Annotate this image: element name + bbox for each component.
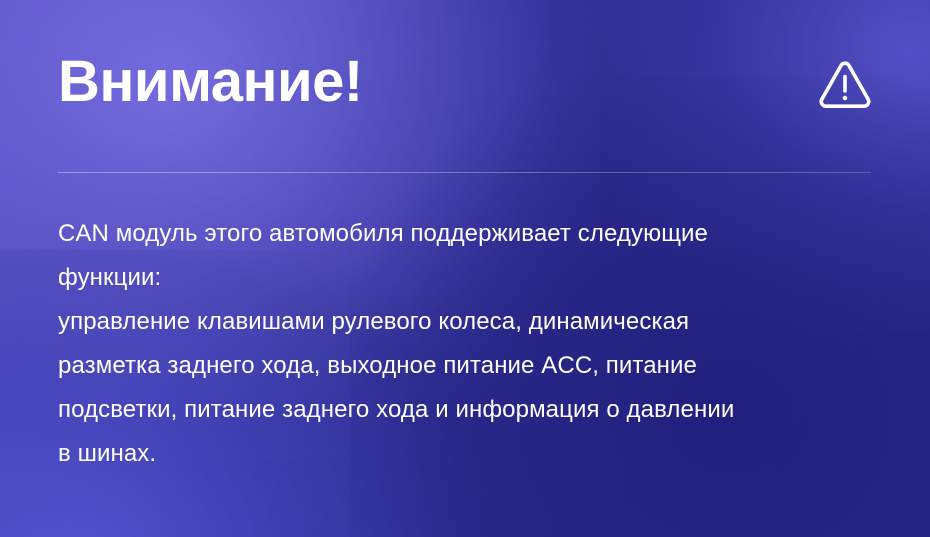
banner-header: Внимание! xyxy=(58,52,873,113)
header-divider xyxy=(58,172,871,173)
banner-content: Внимание! CAN модуль этого автомобиля по… xyxy=(0,0,930,537)
page-title: Внимание! xyxy=(58,52,363,113)
body-line: CAN модуль этого автомобиля поддерживает… xyxy=(58,212,876,256)
banner-body: CAN модуль этого автомобиля поддерживает… xyxy=(58,212,876,476)
warning-banner: Внимание! CAN модуль этого автомобиля по… xyxy=(0,0,930,537)
warning-triangle-icon xyxy=(817,56,873,112)
body-line: функции: xyxy=(58,256,876,300)
body-line: управление клавишами рулевого колеса, ди… xyxy=(58,300,876,344)
body-line: в шинах. xyxy=(58,432,876,476)
body-line: разметка заднего хода, выходное питание … xyxy=(58,344,876,388)
body-line: подсветки, питание заднего хода и информ… xyxy=(58,388,876,432)
